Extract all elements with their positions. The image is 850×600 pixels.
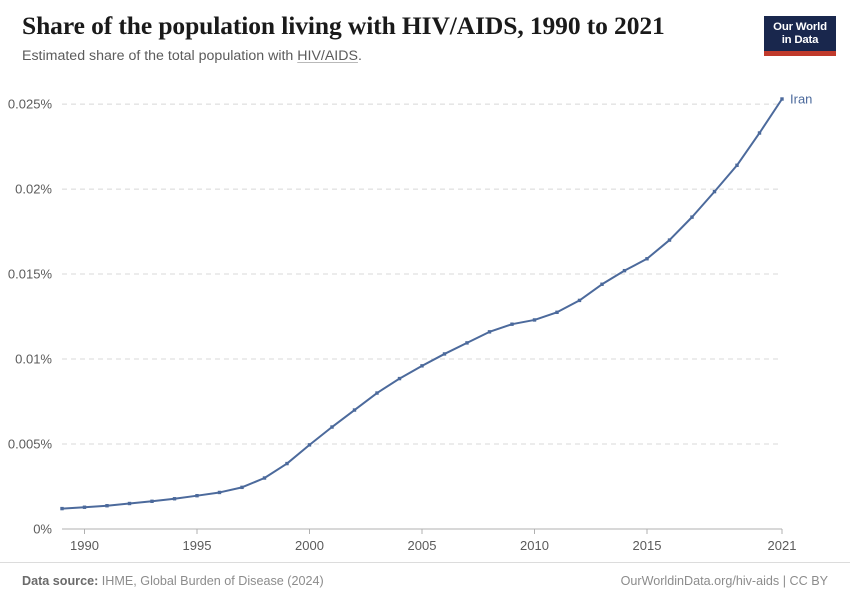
data-point-marker[interactable] [758,131,761,134]
data-point-marker[interactable] [150,500,153,503]
x-axis-tick-label: 2005 [408,538,437,553]
data-point-marker[interactable] [128,502,131,505]
chart-plot-area: 0%0.005%0.01%0.015%0.02%0.025% 199019952… [0,78,850,556]
y-axis-tick-label: 0.01% [15,352,52,367]
data-source-label: Data source: [22,574,98,588]
y-axis-tick-labels: 0%0.005%0.01%0.015%0.02%0.025% [8,97,53,537]
data-point-marker[interactable] [330,425,333,428]
x-axis-tick-label: 2010 [520,538,549,553]
subtitle-text-before: Estimated share of the total population … [22,48,297,64]
attribution-link[interactable]: OurWorldinData.org/hiv-aids | CC BY [621,574,828,588]
series-label-iran: Iran [790,92,812,107]
data-source: Data source: IHME, Global Burden of Dise… [22,574,324,588]
y-axis-tick-label: 0% [33,522,52,537]
data-point-marker[interactable] [443,352,446,355]
data-point-marker[interactable] [465,341,468,344]
data-point-marker[interactable] [735,164,738,167]
data-point-marker[interactable] [398,377,401,380]
chart-header: Share of the population living with HIV/… [22,12,828,72]
data-point-marker[interactable] [263,476,266,479]
chart-subtitle: Estimated share of the total population … [22,48,828,65]
data-point-marker[interactable] [600,283,603,286]
data-point-marker[interactable] [105,504,108,507]
data-point-marker[interactable] [780,97,783,100]
data-point-marker[interactable] [420,364,423,367]
data-point-marker[interactable] [690,215,693,218]
logo-line-2: in Data [782,34,819,47]
chart-footer: Data source: IHME, Global Burden of Dise… [0,562,850,600]
x-axis-tick-labels: 1990199520002005201020152021 [70,538,796,553]
y-axis-tick-label: 0.005% [8,437,53,452]
data-point-marker[interactable] [510,323,513,326]
page-title: Share of the population living with HIV/… [22,12,828,41]
hiv-aids-link[interactable]: HIV/AIDS [297,48,358,64]
y-axis-tick-label: 0.015% [8,267,53,282]
x-axis-tick-label: 2021 [768,538,797,553]
data-point-marker[interactable] [488,330,491,333]
x-axis-tick-label: 1990 [70,538,99,553]
chart-page: Share of the population living with HIV/… [0,0,850,600]
data-point-marker[interactable] [285,462,288,465]
data-point-marker[interactable] [375,391,378,394]
data-point-marker[interactable] [555,311,558,314]
data-point-marker[interactable] [353,408,356,411]
our-world-in-data-logo[interactable]: Our World in Data [764,16,836,56]
data-point-marker[interactable] [623,269,626,272]
series-end-labels: Iran [790,92,812,107]
data-point-marker[interactable] [60,507,63,510]
line-chart-svg: 0%0.005%0.01%0.015%0.02%0.025% 199019952… [0,78,850,556]
gridlines-group [62,104,782,444]
data-point-marker[interactable] [173,497,176,500]
series-marker-group[interactable] [60,97,783,510]
data-point-marker[interactable] [668,238,671,241]
series-line-group[interactable] [62,99,782,509]
x-axis-tick-label: 2015 [633,538,662,553]
data-point-marker[interactable] [218,491,221,494]
data-point-marker[interactable] [645,257,648,260]
data-point-marker[interactable] [533,318,536,321]
y-axis-tick-label: 0.025% [8,97,53,112]
x-axis-line [62,529,782,534]
data-point-marker[interactable] [83,506,86,509]
data-point-marker[interactable] [308,443,311,446]
data-source-value: IHME, Global Burden of Disease (2024) [98,574,323,588]
logo-line-1: Our World [773,21,827,34]
x-axis-tick-label: 1995 [183,538,212,553]
series-line-iran[interactable] [62,99,782,509]
y-axis-tick-label: 0.02% [15,182,52,197]
data-point-marker[interactable] [713,190,716,193]
data-point-marker[interactable] [195,494,198,497]
data-point-marker[interactable] [240,486,243,489]
x-axis-tick-label: 2000 [295,538,324,553]
data-point-marker[interactable] [578,299,581,302]
subtitle-text-after: . [358,48,362,64]
